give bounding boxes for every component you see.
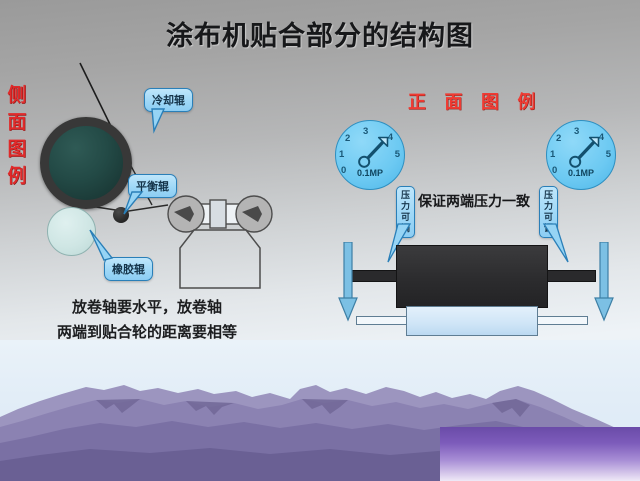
page-title: 涂布机贴合部分的结构图 (0, 14, 640, 53)
main-roller-light (406, 306, 538, 336)
main-roller-dark (396, 245, 548, 308)
gauge-left-unit: 0.1MP (336, 168, 404, 178)
callout-rubber-roller-tail (86, 228, 132, 268)
centre-annotation: 保证两端压力一致 (418, 191, 530, 211)
shaft-left-light (356, 316, 410, 325)
front-view-legend: 正 面 图 例 (408, 88, 543, 114)
vlabel-pressure-right-char-0: 压 (540, 190, 557, 201)
shaft-right-dark (544, 270, 596, 282)
slide-canvas: 涂布机贴合部分的结构图 侧 面 图 例 正 面 图 例 冷却辊 平衡辊 (0, 0, 640, 481)
gauge-left-needle (336, 121, 404, 189)
note-line-1: 两端到贴合轮的距离要相等 (22, 321, 272, 346)
pressure-arrow-right-icon (592, 242, 616, 322)
side-view-machine-frame (160, 192, 280, 297)
gauge-right[interactable]: 0 1 2 3 4 5 0.1MP (546, 120, 616, 190)
vlabel-pressure-left-char-0: 压 (397, 190, 414, 201)
vlabel-pressure-right-char-1: 力 (540, 201, 557, 212)
pressure-arrow-left-icon (336, 242, 360, 322)
note-line-0: 放卷轴要水平，放卷轴 (22, 296, 272, 321)
vlabel-pressure-left-char-1: 力 (397, 201, 414, 212)
purple-accent-band (440, 427, 640, 481)
callout-balance-roller-tail (112, 190, 152, 226)
shaft-right-light (534, 316, 588, 325)
side-view-note: 放卷轴要水平，放卷轴 两端到贴合轮的距离要相等 (22, 296, 272, 346)
gauge-right-needle (547, 121, 615, 189)
gauge-right-unit: 0.1MP (547, 168, 615, 178)
gauge-left[interactable]: 0 1 2 3 4 5 0.1MP (335, 120, 405, 190)
callout-cooling-roller-tail (130, 105, 170, 145)
